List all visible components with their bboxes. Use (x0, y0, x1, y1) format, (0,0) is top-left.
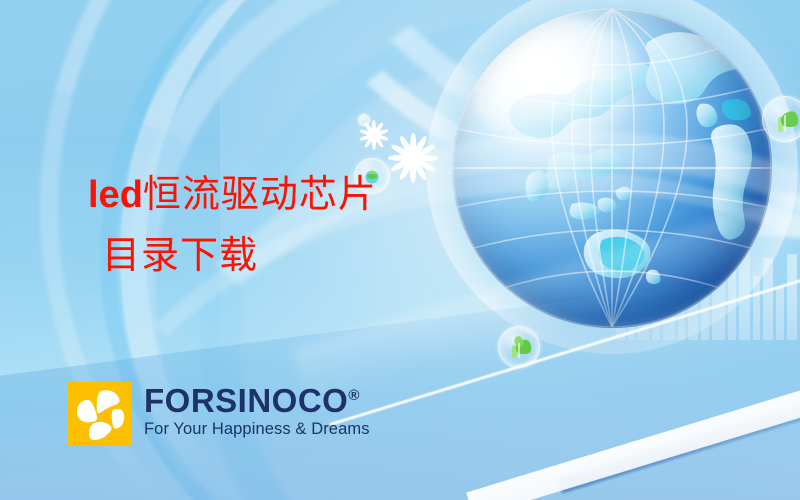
registered-trademark-icon: ® (348, 387, 360, 404)
green-sprout-icon (763, 97, 800, 141)
brand-name: FORSINOCO (144, 382, 348, 419)
logo-tagline: For Your Happiness & Dreams (144, 419, 370, 439)
brand-logo[interactable]: FORSINOCO® For Your Happiness & Dreams (68, 382, 370, 446)
slide-canvas: led恒流驱动芯片 目录下载 FORSINOCO® For Your Happi… (0, 0, 800, 500)
eco-bubble-tiny (358, 114, 370, 126)
headline-block: led恒流驱动芯片 目录下载 (88, 164, 377, 285)
starburst-sparkle-large (387, 132, 439, 184)
headline-line-1: led恒流驱动芯片 (88, 164, 377, 225)
logo-wordmark-block: FORSINOCO® For Your Happiness & Dreams (144, 382, 370, 439)
green-sprout-icon (499, 327, 539, 367)
four-petal-pinwheel-icon (68, 382, 132, 446)
eco-bubble-sprout (498, 326, 540, 368)
headline-cjk: 恒流驱动芯片 (143, 172, 377, 216)
logo-mark-tile (68, 382, 132, 446)
headline-latin: led (88, 174, 143, 216)
eco-bubble-edge (762, 96, 800, 142)
logo-wordmark: FORSINOCO® (144, 384, 370, 418)
headline-line-2: 目录下载 (88, 225, 377, 285)
